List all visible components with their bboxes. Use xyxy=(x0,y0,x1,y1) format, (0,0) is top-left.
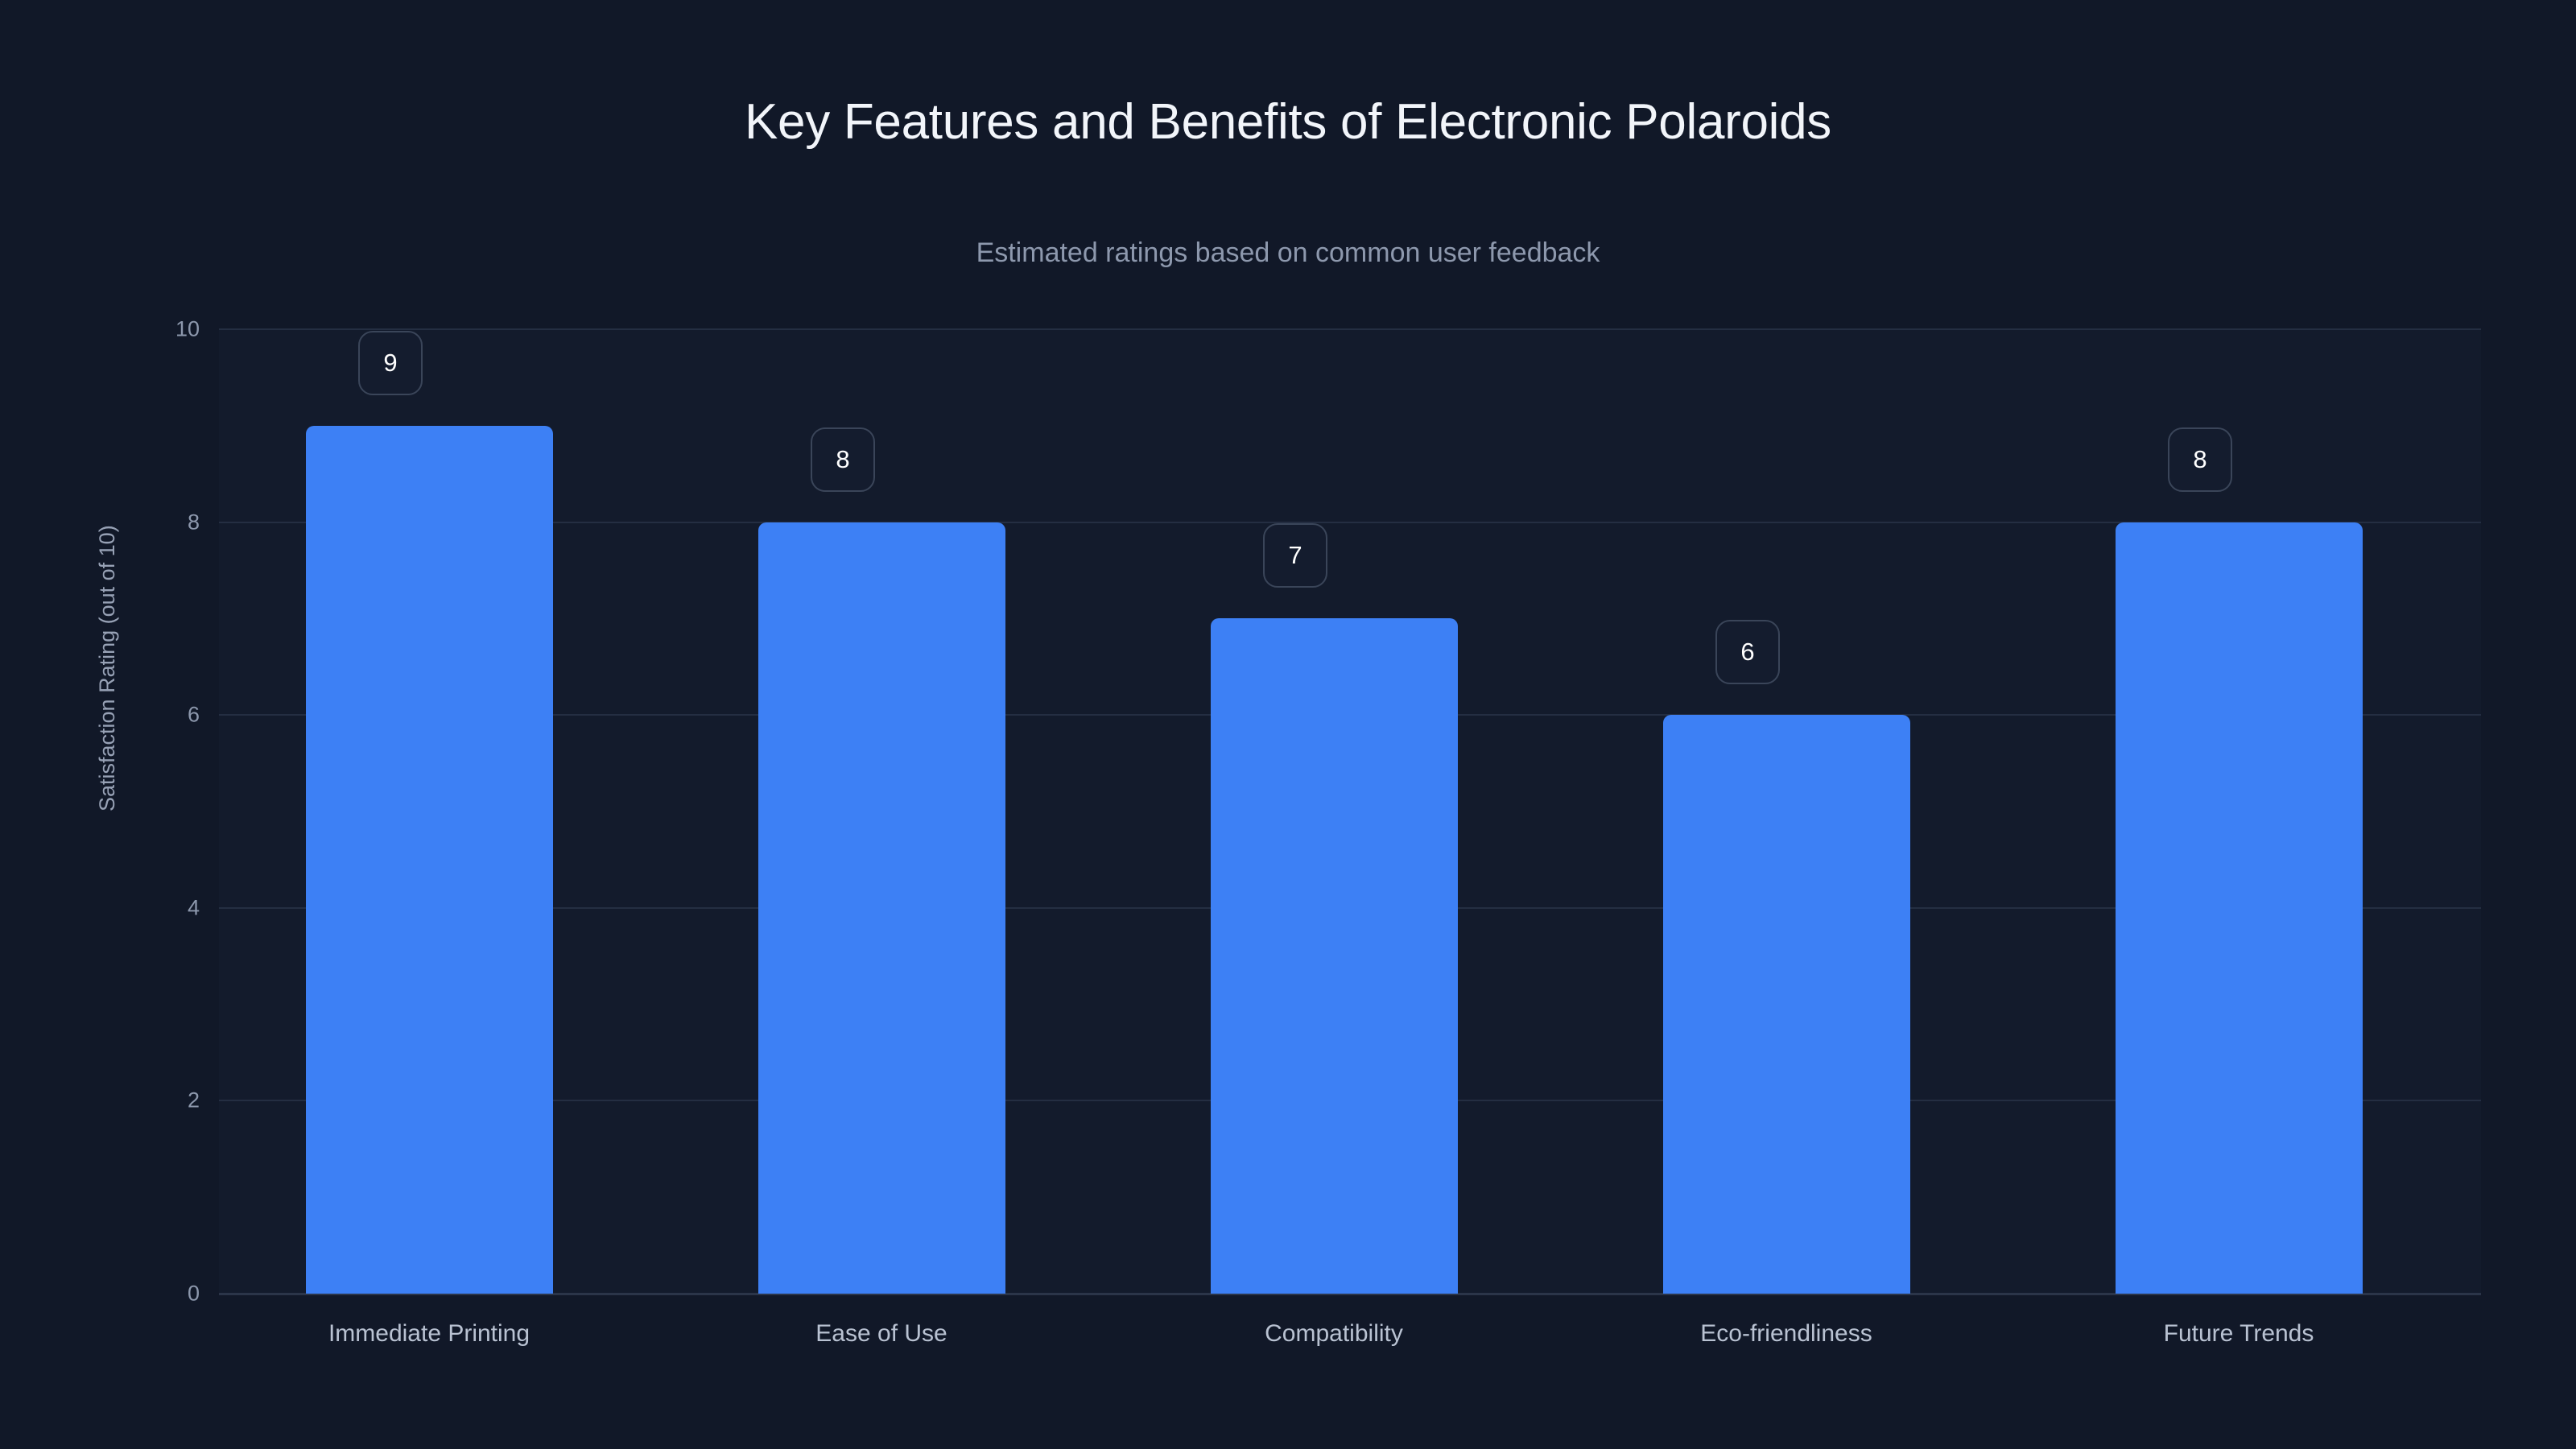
y-axis-tick-label: 4 xyxy=(0,895,200,920)
y-axis-tick-label: 2 xyxy=(0,1088,200,1113)
bar-value-badge: 8 xyxy=(2168,427,2232,492)
x-axis-category-label: Ease of Use xyxy=(815,1320,947,1348)
bar[interactable] xyxy=(1211,618,1458,1294)
x-axis-labels-group: Immediate PrintingEase of UseCompatibili… xyxy=(219,1320,2481,1368)
y-axis-tick-label: 10 xyxy=(0,317,200,342)
x-axis-category-label: Compatibility xyxy=(1265,1320,1403,1348)
y-axis-title: Satisfaction Rating (out of 10) xyxy=(95,525,120,811)
bar[interactable] xyxy=(2116,522,2363,1294)
bar[interactable] xyxy=(306,426,553,1294)
bars-group xyxy=(219,329,2481,1294)
chart-canvas: Key Features and Benefits of Electronic … xyxy=(0,0,2576,1449)
x-axis-category-label: Future Trends xyxy=(2164,1320,2314,1348)
bar[interactable] xyxy=(1663,715,1910,1294)
bar-value-badge: 9 xyxy=(358,331,423,395)
chart-subtitle: Estimated ratings based on common user f… xyxy=(0,237,2576,269)
x-axis-category-label: Immediate Printing xyxy=(328,1320,530,1348)
bar-value-badge: 8 xyxy=(811,427,875,492)
bar-value-badge: 7 xyxy=(1263,523,1327,588)
bar-value-badge: 6 xyxy=(1715,620,1780,684)
x-axis-category-label: Eco-friendliness xyxy=(1700,1320,1872,1348)
bar[interactable] xyxy=(758,522,1005,1294)
y-axis-tick-label: 8 xyxy=(0,510,200,535)
chart-title: Key Features and Benefits of Electronic … xyxy=(0,93,2576,151)
plot-area: 98768 xyxy=(219,329,2481,1294)
y-axis-tick-label: 6 xyxy=(0,703,200,728)
y-axis-tick-label: 0 xyxy=(0,1282,200,1307)
